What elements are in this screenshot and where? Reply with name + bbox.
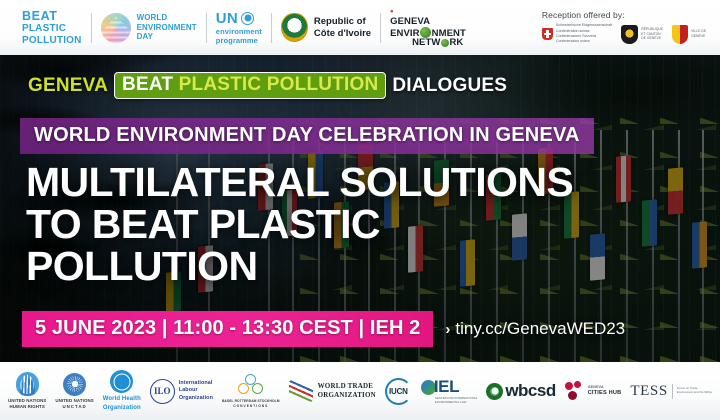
wed-circle-icon bbox=[101, 13, 131, 43]
dialogues-title-row: GENEVA BEAT PLASTIC POLLUTION DIALOGUES bbox=[28, 72, 507, 99]
bpp-logo-line3: POLLUTION bbox=[22, 35, 82, 46]
geneva-cities-hub-dots-icon bbox=[565, 381, 584, 401]
wto-swoosh-icon bbox=[289, 380, 313, 402]
ci-line2: Côte d'Ivoire bbox=[314, 28, 371, 40]
headline-line1: MULTILATERAL SOLUTIONS bbox=[26, 162, 666, 204]
reception-block: Reception offered by: Schweizerische Eid… bbox=[542, 0, 710, 55]
dialogues-tail: DIALOGUES bbox=[392, 75, 507, 97]
wed-line2: ENVIRONMENT bbox=[137, 23, 197, 32]
tess-mark: TESS bbox=[630, 383, 667, 400]
partner-logo-brs-conventions: BASEL ROTTERDAM STOCKHOLM CONVENTIONS bbox=[222, 374, 280, 408]
geneva-environment-network-logo: • GENEVA ENVIRNMENT NETWRK bbox=[390, 0, 466, 55]
unctad-cap1: UNITED NATIONS bbox=[55, 398, 93, 404]
ci-line1: Republic of bbox=[314, 16, 371, 28]
divider bbox=[672, 384, 673, 399]
swiss-l1: Schweizerische Eidgenossenschaft bbox=[556, 23, 612, 28]
hr-cap2: HUMAN RIGHTS bbox=[8, 404, 46, 410]
beat-plastic-pollution-logo: BEAT PLASTIC POLLUTION bbox=[10, 0, 82, 55]
divider bbox=[206, 13, 207, 43]
unctad-cap2: UNCTAD bbox=[55, 404, 93, 410]
partner-logo-ciel: IEL CENTER FOR INTERNATIONAL ENVIRONMENT… bbox=[421, 377, 478, 405]
world-environment-day-logo: WORLD ENVIRONMENT DAY bbox=[101, 0, 197, 55]
bpp-logo-line1: BEAT bbox=[22, 9, 82, 23]
partner-logo-wbcsd: wbcsd bbox=[486, 381, 555, 401]
top-partner-bar: BEAT PLASTIC POLLUTION WORLD ENVIRONMENT… bbox=[0, 0, 720, 55]
partner-logo-geneva-cities-hub: GENEVA CITIES HUB bbox=[565, 381, 622, 401]
canton-l1: RÉPUBLIQUE bbox=[641, 27, 663, 32]
dialogues-green-box: BEAT PLASTIC POLLUTION bbox=[114, 72, 386, 99]
ilo-cap2: Labour bbox=[179, 387, 213, 394]
event-date-bar: 5 JUNE 2023 | 11:00 - 13:30 CEST | IEH 2 bbox=[22, 311, 433, 347]
bpp-logo-line2: PLASTIC bbox=[22, 23, 82, 34]
ciel-mark: IEL bbox=[434, 377, 459, 397]
partner-logo-iucn: IUCN bbox=[385, 378, 412, 405]
tess-cap2: Environment and the SDGs bbox=[677, 391, 712, 395]
dialogues-beat: BEAT bbox=[122, 74, 173, 95]
partner-logo-tess: TESS Forum on Trade, Environment and the… bbox=[630, 383, 712, 400]
ilo-cap1: International bbox=[179, 380, 213, 387]
main-headline: MULTILATERAL SOLUTIONS TO BEAT PLASTIC P… bbox=[26, 162, 666, 287]
gen-green-dot-icon bbox=[420, 27, 431, 38]
city-l2: GENÈVE bbox=[691, 34, 706, 39]
canton-crest-icon bbox=[621, 25, 638, 44]
brs-rings-icon bbox=[238, 374, 263, 398]
partner-logo-wto: WORLD TRADE ORGANIZATION bbox=[289, 380, 376, 402]
gen-line1: GENEVA bbox=[390, 17, 466, 27]
chevron-right-icon: › bbox=[445, 322, 450, 337]
wto-cap2: ORGANIZATION bbox=[318, 391, 376, 400]
gen-line3b: RK bbox=[449, 37, 463, 48]
canton-geneve-logo: RÉPUBLIQUE ET CANTON DE GENÈVE bbox=[621, 25, 663, 44]
event-link-text: tiny.cc/GenevaWED23 bbox=[455, 319, 625, 339]
cote-divoire-crest-icon bbox=[281, 13, 308, 42]
who-emblem-icon bbox=[110, 370, 133, 393]
ilo-emblem-icon: ILO bbox=[150, 379, 175, 404]
headline-line2: TO BEAT PLASTIC bbox=[26, 204, 666, 246]
unctad-globe-icon bbox=[63, 373, 86, 396]
brs-cap2: CONVENTIONS bbox=[222, 404, 280, 408]
who-cap1: World Health bbox=[103, 395, 141, 403]
event-details-row: 5 JUNE 2023 | 11:00 - 13:30 CEST | IEH 2… bbox=[22, 311, 625, 347]
iucn-emblem-icon: IUCN bbox=[385, 378, 412, 405]
cote-divoire-logo: Republic of Côte d'Ivoire bbox=[281, 0, 371, 55]
unep-main: UN bbox=[216, 10, 238, 27]
unep-sub2: programme bbox=[216, 36, 262, 45]
swiss-l4: Confederaziun svizra bbox=[556, 39, 612, 44]
headline-line3: POLLUTION bbox=[26, 246, 666, 288]
gch-cap2: CITIES HUB bbox=[588, 390, 622, 397]
wed-line1: WORLD bbox=[137, 13, 197, 22]
partner-logo-unctad: UNITED NATIONS UNCTAD bbox=[55, 373, 93, 410]
event-registration-link[interactable]: › tiny.cc/GenevaWED23 bbox=[445, 319, 625, 339]
reception-label: Reception offered by: bbox=[542, 10, 706, 20]
partner-logo-ilo: ILO International Labour Organization bbox=[150, 379, 213, 404]
partner-logo-who: World Health Organization bbox=[103, 370, 141, 411]
wed-line3: DAY bbox=[137, 32, 197, 41]
gen-line3: NETW bbox=[412, 37, 440, 48]
divider bbox=[91, 13, 92, 43]
event-banner: BEAT PLASTIC POLLUTION WORLD ENVIRONMENT… bbox=[0, 0, 720, 420]
city-crest-icon bbox=[672, 25, 688, 44]
who-cap2: Organization bbox=[103, 404, 141, 412]
ville-de-geneve-logo: VILLE DE GENÈVE bbox=[672, 25, 706, 44]
dialogues-geneva: GENEVA bbox=[28, 75, 108, 97]
unep-globe-icon bbox=[241, 12, 254, 25]
wbcsd-emblem-icon bbox=[486, 383, 503, 400]
swiss-cross-icon bbox=[542, 28, 553, 40]
divider bbox=[380, 13, 381, 43]
bottom-partner-bar: UNITED NATIONS HUMAN RIGHTS UNITED NATIO… bbox=[0, 362, 720, 420]
swiss-confederation-logo: Schweizerische Eidgenossenschaft Confédé… bbox=[542, 23, 612, 45]
ciel-cap2: ENVIRONMENTAL LAW bbox=[435, 401, 478, 405]
ilo-cap3: Organization bbox=[179, 395, 213, 402]
un-human-rights-icon bbox=[16, 372, 39, 396]
unep-sub1: environment bbox=[216, 27, 262, 36]
gen-green-dot-icon-2 bbox=[441, 39, 449, 47]
unep-logo: UN environment programme bbox=[216, 0, 262, 55]
subtitle-banner: WORLD ENVIRONMENT DAY CELEBRATION IN GEN… bbox=[20, 118, 594, 154]
partner-logo-un-human-rights: UNITED NATIONS HUMAN RIGHTS bbox=[8, 372, 46, 410]
canton-l3: DE GENÈVE bbox=[641, 36, 663, 41]
divider bbox=[271, 13, 272, 43]
dialogues-plastic-pollution: PLASTIC POLLUTION bbox=[173, 74, 378, 95]
brs-cap1: BASEL ROTTERDAM STOCKHOLM bbox=[222, 399, 280, 403]
wbcsd-mark-text: wbcsd bbox=[505, 381, 555, 401]
wto-cap1: WORLD TRADE bbox=[318, 382, 376, 391]
